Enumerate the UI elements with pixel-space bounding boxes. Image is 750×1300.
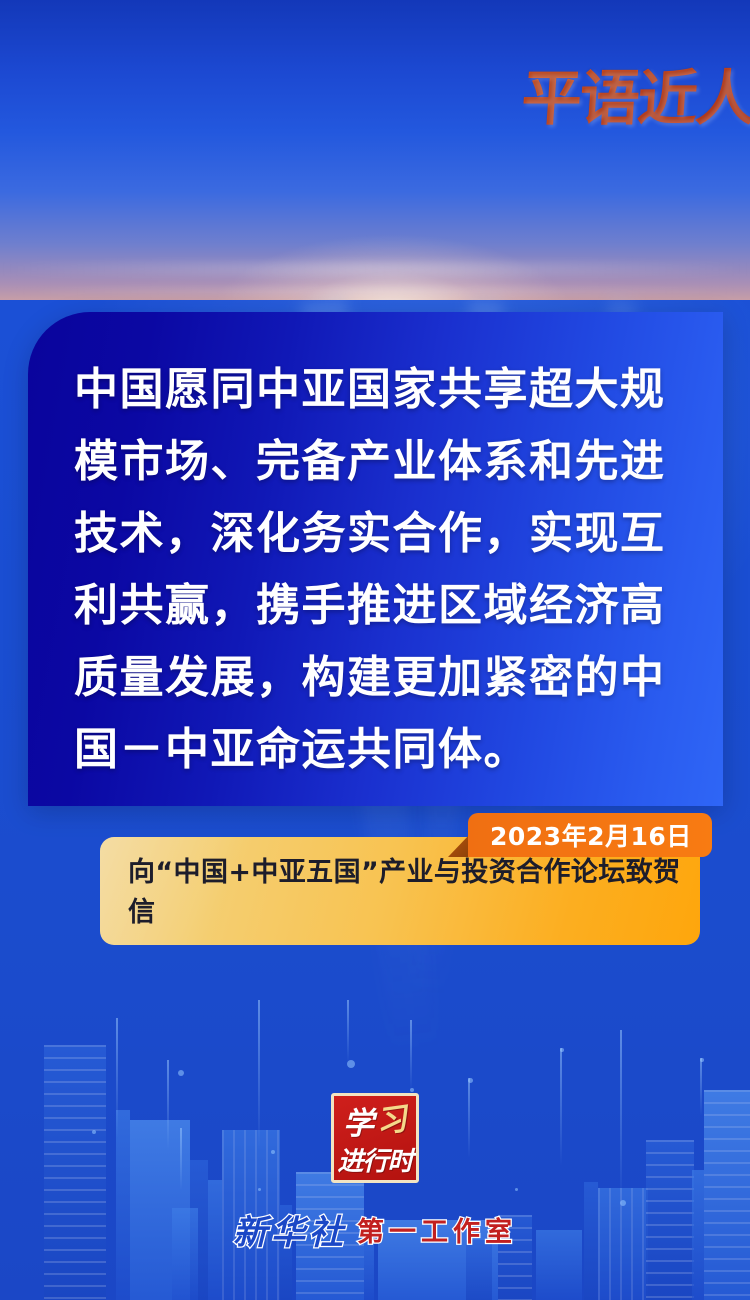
- sky-dot: [515, 1188, 518, 1191]
- poster-root: 平语近人 中国愿同中亚国家共享超大规模市场、完备产业体系和先进技术，深化务实合作…: [0, 0, 750, 1300]
- xuexi-badge-xue: 学: [343, 1098, 374, 1143]
- sky-dot: [271, 1150, 275, 1154]
- sky-stalk: [116, 1018, 118, 1138]
- quote-card: 中国愿同中亚国家共享超大规模市场、完备产业体系和先进技术，深化务实合作，实现互利…: [28, 312, 723, 806]
- skyline-building: [704, 1090, 750, 1300]
- sky-stalk: [180, 1128, 182, 1190]
- quote-text: 中国愿同中亚国家共享超大规模市场、完备产业体系和先进技术，深化务实合作，实现互利…: [74, 354, 680, 786]
- sky-stalk: [258, 1000, 260, 1150]
- sky-dot: [178, 1070, 184, 1076]
- xuexi-badge-xi: 习: [373, 1093, 410, 1142]
- sky-stalk: [347, 1000, 349, 1062]
- skyline-building: [44, 1045, 106, 1300]
- footer-brand-line: 新华社 第一工作室: [0, 1205, 750, 1254]
- xuexi-badge: 学 习 进行时: [331, 1093, 419, 1183]
- first-studio-label: 第一工作室: [357, 1210, 517, 1249]
- program-logo-text: 平语近人: [519, 50, 750, 137]
- cloud-band-2: [0, 287, 750, 296]
- xuexi-badge-line2: 进行时: [337, 1141, 412, 1178]
- date-label: 2023年2月16日: [490, 817, 692, 853]
- building-floors: [704, 1090, 750, 1300]
- sky-stalk: [560, 1048, 562, 1166]
- date-tab: 2023年2月16日: [468, 813, 712, 857]
- xuexi-badge-line1: 学 习: [334, 1099, 416, 1143]
- building-floors: [44, 1045, 106, 1300]
- sky-dot: [258, 1188, 261, 1191]
- sky-stalk: [620, 1030, 622, 1202]
- sky-dot: [92, 1130, 96, 1134]
- sky-stalk: [468, 1078, 470, 1158]
- sky-stalk: [700, 1058, 702, 1116]
- caption-title: 向“中国+中亚五国”产业与投资合作论坛致贺信: [128, 853, 684, 933]
- program-logo: 平语近人: [548, 28, 728, 158]
- cloud-band-1: [0, 262, 750, 276]
- sky-stalk: [167, 1060, 169, 1150]
- sky-stalk: [410, 1020, 412, 1090]
- xinhua-agency-label: 新华社: [233, 1205, 347, 1254]
